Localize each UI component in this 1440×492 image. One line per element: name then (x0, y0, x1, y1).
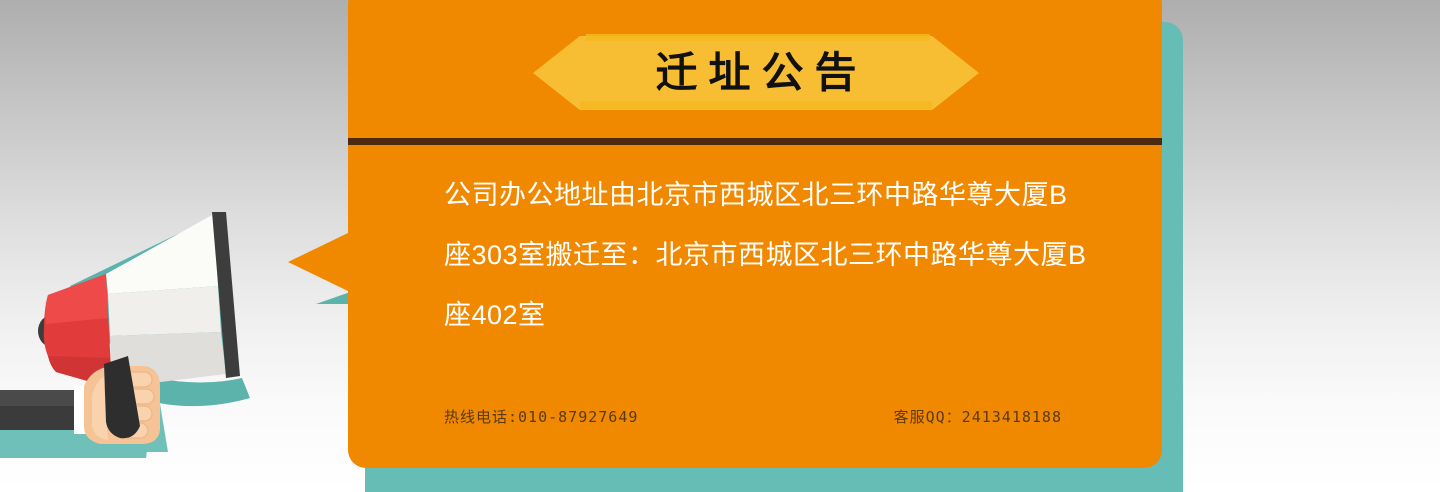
announcement-body: 公司办公地址由北京市西城区北三环中路华尊大厦B座303室搬迁至：北京市西城区北三… (444, 165, 1092, 345)
hotline-text: 热线电话:010-87927649 (444, 406, 638, 427)
title-divider (348, 138, 1162, 145)
page-title: 迁址公告 (533, 36, 979, 110)
speech-tail (288, 232, 350, 292)
megaphone-cone-top (106, 214, 218, 294)
announcement-banner: 迁址公告 公司办公地址由北京市西城区北三环中路华尊大厦B座303室搬迁至：北京市… (0, 0, 1440, 492)
megaphone-cone-mid (108, 286, 221, 336)
contact-footer: 热线电话:010-87927649 客服QQ：2413418188 (444, 406, 1092, 427)
megaphone-illustration (0, 190, 330, 492)
qq-text: 客服QQ：2413418188 (894, 406, 1062, 427)
